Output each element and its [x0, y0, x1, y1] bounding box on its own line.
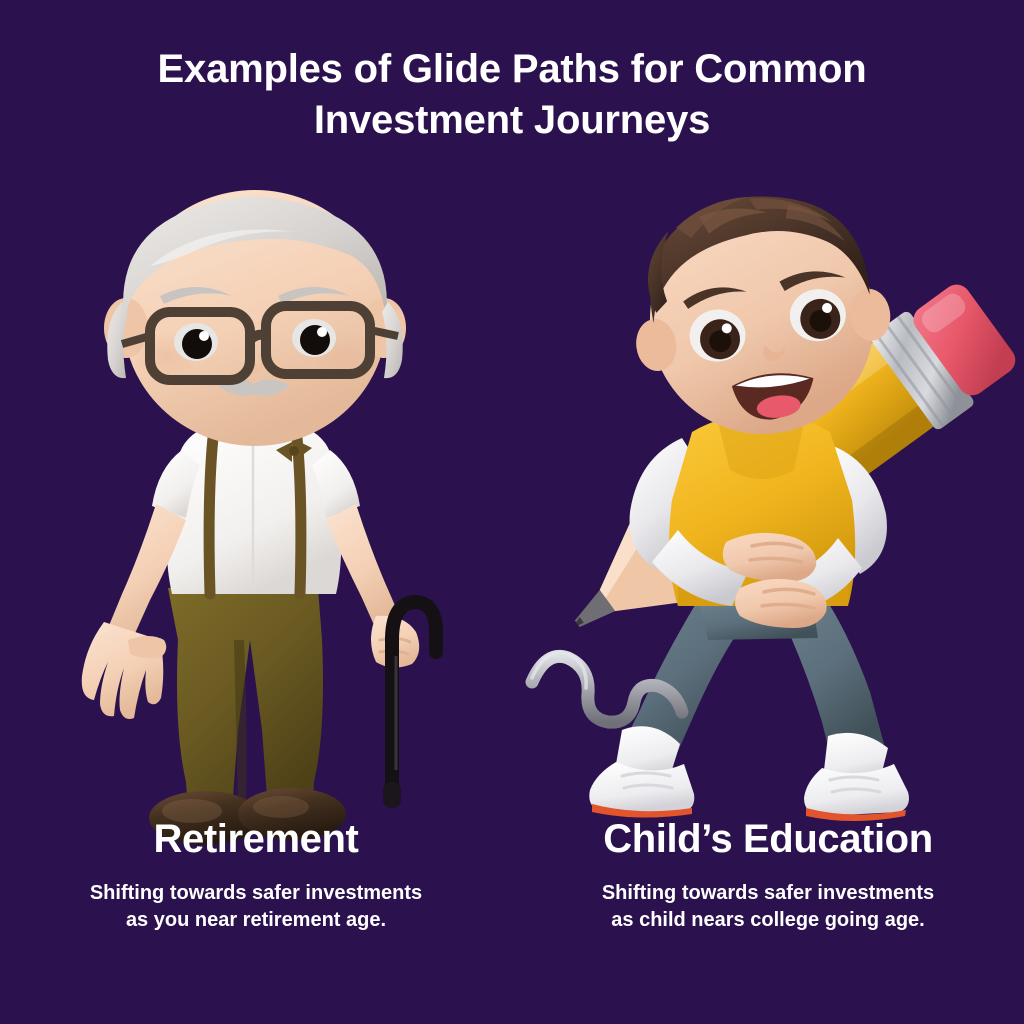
caption-sub-retirement: Shifting towards safer investments as yo…: [18, 880, 494, 934]
page-title-line-1: Examples of Glide Paths for Common: [82, 44, 942, 95]
caption-title-retirement: Retirement: [18, 818, 494, 860]
caption-retirement: Retirement Shifting towards safer invest…: [0, 818, 512, 934]
caption-sub-retirement-line-1: Shifting towards safer investments: [18, 880, 494, 907]
illustration-row: [0, 170, 1024, 870]
page-title: Examples of Glide Paths for Common Inves…: [82, 44, 942, 146]
caption-row: Retirement Shifting towards safer invest…: [0, 818, 1024, 934]
head: [104, 190, 406, 446]
caption-title-childs-education: Child’s Education: [530, 818, 1006, 860]
elderly-man-illustration: [0, 170, 512, 830]
caption-sub-childs-education-line-1: Shifting towards safer investments: [530, 880, 1006, 907]
caption-sub-childs-education-line-2: as child nears college going age.: [530, 907, 1006, 934]
poster-canvas: Examples of Glide Paths for Common Inves…: [0, 0, 1024, 1024]
boy-with-pencil-illustration: [512, 170, 1024, 830]
column-childs-education: [512, 170, 1024, 870]
shirt: [167, 424, 342, 594]
column-retirement: [0, 170, 512, 870]
left-hand: [82, 622, 167, 719]
trousers: [168, 588, 323, 810]
caption-childs-education: Child’s Education Shifting towards safer…: [512, 818, 1024, 934]
caption-sub-retirement-line-2: as you near retirement age.: [18, 907, 494, 934]
caption-sub-childs-education: Shifting towards safer investments as ch…: [530, 880, 1006, 934]
page-title-line-2: Investment Journeys: [82, 95, 942, 146]
